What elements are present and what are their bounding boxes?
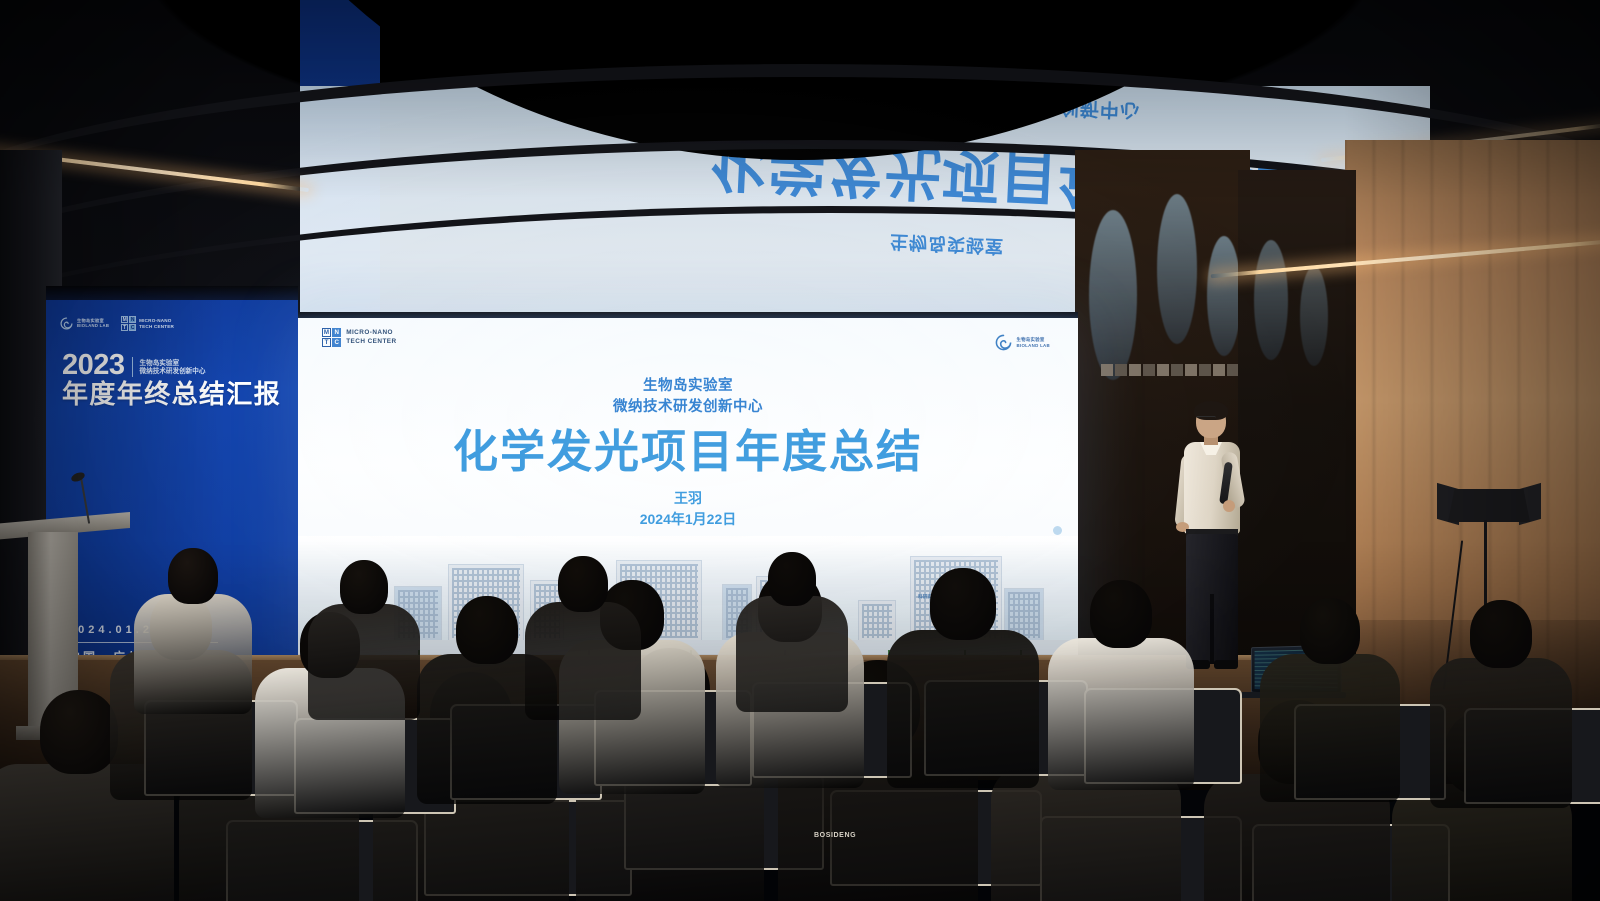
audience-head	[168, 548, 218, 604]
audience-torso	[1048, 638, 1194, 790]
bioland-logo-en: BIOLAND LAB	[77, 324, 109, 328]
backdrop-year: 2023	[62, 352, 125, 379]
backdrop-org-line2: 微纳技术研发创新中心	[140, 368, 206, 376]
mntc-letter-m: M	[121, 316, 128, 323]
mntc-boxed-logo-icon: M N T C	[322, 328, 341, 347]
bioland-logo: 生物岛实验室 BIOLAND LAB	[60, 317, 109, 330]
mntc-logo-line2: TECH CENTER	[346, 338, 396, 347]
backdrop-headline: 年度年终总结汇报	[62, 381, 281, 407]
mntc-logo-line2: TECH CENTER	[139, 324, 174, 329]
backdrop-org-line1: 生物岛实验室	[140, 360, 206, 368]
bioland-spiral-logo-icon	[60, 317, 73, 330]
audience-head	[558, 556, 608, 612]
pa-speaker	[1448, 489, 1530, 522]
slide-author: 王羽	[298, 488, 1078, 509]
audience-torso	[134, 594, 252, 714]
audience-head	[456, 596, 518, 664]
slide-subtitle-line1: 生物岛实验室	[298, 376, 1078, 397]
audience-head	[1090, 580, 1152, 648]
audience-head	[40, 690, 118, 774]
mntc-boxed-logo-icon: M N T C	[121, 316, 136, 331]
slide-date: 2024年1月22日	[298, 509, 1078, 529]
audience-torso	[887, 630, 1039, 788]
slide-subtitle-line2: 微纳技术研发创新中心	[298, 397, 1078, 418]
slide-mntc-logo: M N T C MICRO-NANO TECH CENTER	[322, 328, 397, 347]
mntc-letter-c: C	[332, 338, 341, 347]
mntc-letter-t: T	[322, 338, 331, 347]
slide-decor-dot	[1053, 526, 1062, 535]
audience-torso	[736, 596, 848, 712]
backdrop-year-row: 2023 生物岛实验室 微纳技术研发创新中心	[62, 352, 205, 379]
mntc-letter-t: T	[121, 324, 128, 331]
audience-head	[340, 560, 388, 614]
jacket-brand-text: BOSIDENG	[814, 832, 856, 839]
audience-torso	[1260, 654, 1400, 802]
audience-head	[930, 568, 996, 640]
audience-head	[768, 552, 816, 606]
presenter	[1168, 404, 1254, 674]
audience-torso	[525, 602, 641, 720]
backdrop-org: 生物岛实验室 微纳技术研发创新中心	[140, 360, 206, 377]
backdrop-divider	[132, 357, 133, 377]
audience-head	[1470, 600, 1532, 668]
mntc-letter-n: N	[332, 328, 341, 337]
presentation-scene: 微纳技术研发创新中心 化学发光项目年度总结 生物岛实验室	[0, 0, 1600, 901]
backdrop-logo-row: 生物岛实验室 BIOLAND LAB M N T C MICRO-NANO TE…	[60, 316, 174, 331]
mntc-logo: M N T C MICRO-NANO TECH CENTER	[121, 316, 174, 331]
glasses-icon	[1196, 416, 1216, 420]
mntc-letter-c: C	[129, 324, 136, 331]
mntc-logo-line1: MICRO-NANO	[346, 329, 396, 338]
mntc-letter-n: N	[129, 316, 136, 323]
mntc-letter-m: M	[322, 328, 331, 337]
slide-main-title: 化学发光项目年度总结	[298, 428, 1078, 477]
audience-torso	[1430, 658, 1572, 808]
slide-bioland-logo: 生物岛实验室 BIOLAND LAB	[995, 334, 1050, 351]
audience-head	[1300, 598, 1360, 664]
bioland-spiral-logo-icon	[995, 334, 1012, 351]
bioland-logo-en: BIOLAND LAB	[1016, 343, 1050, 349]
bioland-logo-cn: 生物岛实验室	[1016, 337, 1050, 343]
audience-torso	[308, 604, 420, 720]
mntc-logo-line1: MICRO-NANO	[139, 318, 174, 323]
slide-title-block: 生物岛实验室 微纳技术研发创新中心 化学发光项目年度总结 王羽 2024年1月2…	[298, 376, 1078, 529]
